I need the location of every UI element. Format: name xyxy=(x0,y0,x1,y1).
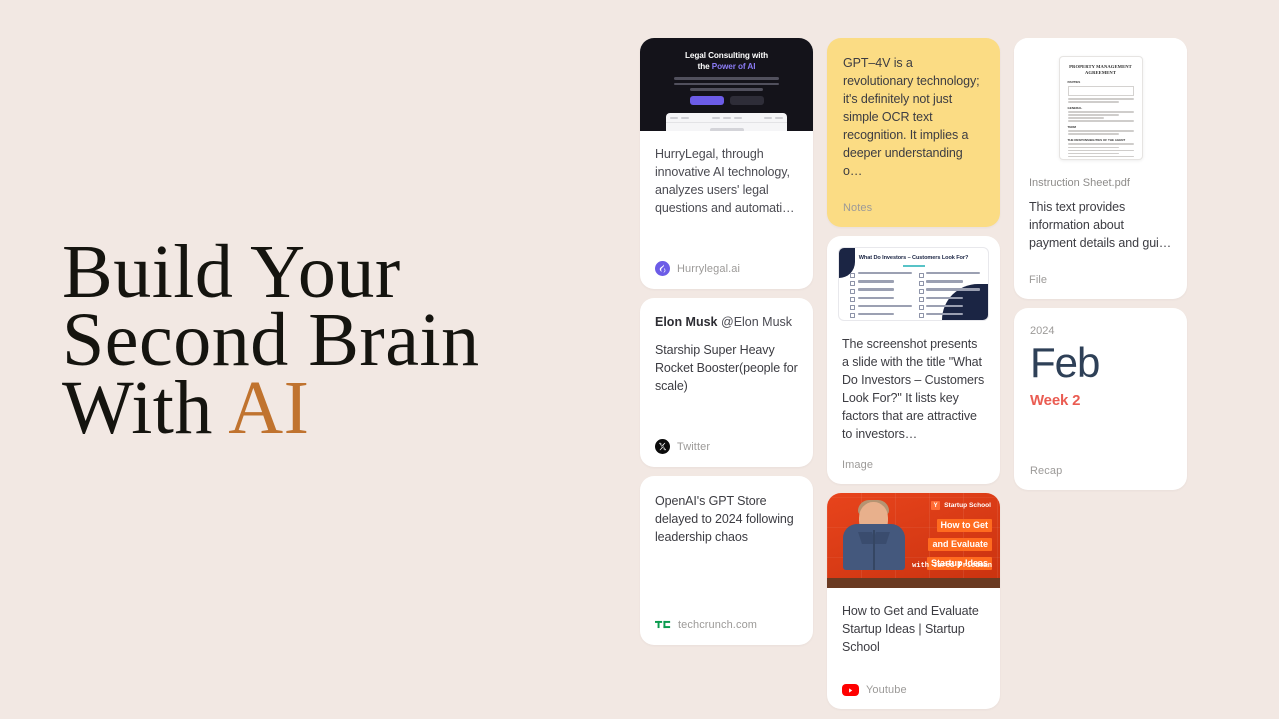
thumbnail-brand-label: Startup School xyxy=(944,502,991,509)
pdf-page-thumbnail: PROPERTY MANAGEMENT AGREEMENT PARTIES GE… xyxy=(1014,38,1187,170)
card-spacer xyxy=(843,180,984,202)
card-spacer xyxy=(1029,252,1172,274)
card-source-label: Twitter xyxy=(677,441,710,453)
pdf-text-line xyxy=(1068,147,1119,149)
thumbnail-hero-title: Legal Consulting with the Power of AI xyxy=(640,50,813,72)
pdf-text-line xyxy=(1068,150,1134,152)
list-item xyxy=(919,305,981,311)
pdf-form-box xyxy=(1068,86,1134,96)
thumbnail-browser-bar xyxy=(666,113,787,123)
card-hurrylegal[interactable]: Legal Consulting with the Power of AI Hu… xyxy=(640,38,813,289)
card-summary-text: HurryLegal, through innovative AI techno… xyxy=(655,145,798,217)
pdf-title-line-1: PROPERTY MANAGEMENT xyxy=(1069,64,1132,69)
slide-bullet-list-left xyxy=(850,272,912,321)
card-instruction-sheet-pdf[interactable]: PROPERTY MANAGEMENT AGREEMENT PARTIES GE… xyxy=(1014,38,1187,299)
slide-title-underline xyxy=(903,265,925,267)
card-source-label: Image xyxy=(842,459,985,471)
presentation-slide-thumbnail: What Do Investors – Customers Look For? xyxy=(838,247,989,321)
card-summary-text: OpenAI's GPT Store delayed to 2024 follo… xyxy=(655,492,798,546)
hero-title-line-2-accent: Power of AI xyxy=(712,62,756,71)
card-source-row[interactable]: Hurrylegal.ai xyxy=(655,261,798,276)
pdf-filename: Instruction Sheet.pdf xyxy=(1029,176,1172,191)
tweet-author-name: Elon Musk xyxy=(655,315,718,329)
tweet-author: Elon Musk @Elon Musk xyxy=(655,314,798,331)
card-source-label: Notes xyxy=(843,202,984,214)
card-board: Legal Consulting with the Power of AI Hu… xyxy=(640,38,1185,709)
slide-bullet-list-right xyxy=(919,272,981,321)
presenter-shirt-placket xyxy=(873,530,875,570)
pdf-section-heading: GENERAL xyxy=(1068,106,1134,110)
list-item xyxy=(919,297,981,303)
card-summary-text: How to Get and Evaluate Startup Ideas | … xyxy=(842,602,985,656)
overlay-line-1: How to Get xyxy=(937,519,993,532)
hero-title-line-2-plain: the xyxy=(698,62,712,71)
recap-month: Feb xyxy=(1030,340,1171,386)
pdf-section-heading: TERM xyxy=(1068,125,1134,129)
list-item xyxy=(919,272,981,278)
card-spacer xyxy=(655,546,798,614)
card-source-row[interactable]: techcrunch.com xyxy=(655,617,798,632)
pdf-text-line xyxy=(1068,133,1119,135)
thumbnail-brand: Y Startup School xyxy=(931,501,991,510)
ycombinator-icon: Y xyxy=(931,501,940,510)
pdf-section-heading: THE RESPONSIBILITIES OF THE AGENT xyxy=(1068,138,1134,142)
card-body: OpenAI's GPT Store delayed to 2024 follo… xyxy=(640,476,813,645)
card-body: The screenshot presents a slide with the… xyxy=(827,321,1000,484)
note-text: GPT–4V is a revolutionary technology; it… xyxy=(843,54,984,180)
card-elon-tweet[interactable]: Elon Musk @Elon Musk Starship Super Heav… xyxy=(640,298,813,467)
hero-headline: Build Your Second Brain With AI xyxy=(62,238,602,442)
thumbnail-presenter-figure xyxy=(843,502,905,578)
card-startup-school-video[interactable]: Y Startup School How to Get and Evaluate… xyxy=(827,493,1000,709)
youtube-icon xyxy=(842,684,859,696)
thumbnail-cta-buttons xyxy=(640,96,813,105)
card-summary-text: Starship Super Heavy Rocket Booster(peop… xyxy=(655,341,798,395)
card-body: How to Get and Evaluate Startup Ideas | … xyxy=(827,588,1000,709)
pdf-document-title: PROPERTY MANAGEMENT AGREEMENT xyxy=(1068,64,1134,76)
pdf-text-line xyxy=(1068,156,1134,158)
list-item xyxy=(850,297,912,303)
pdf-text-line xyxy=(1068,98,1134,100)
card-body: Instruction Sheet.pdf This text provides… xyxy=(1014,170,1187,299)
board-column-2: GPT–4V is a revolutionary technology; it… xyxy=(827,38,1000,709)
card-spacer xyxy=(655,395,798,439)
list-item xyxy=(850,305,912,311)
thumbnail-primary-button xyxy=(690,96,724,105)
pdf-text-line xyxy=(1068,111,1134,113)
overlay-line-2: and Evaluate xyxy=(928,538,992,551)
list-item xyxy=(919,313,981,319)
card-techcrunch-article[interactable]: OpenAI's GPT Store delayed to 2024 follo… xyxy=(640,476,813,645)
card-summary-text: This text provides information about pay… xyxy=(1029,198,1172,252)
list-item xyxy=(850,280,912,286)
card-source-row[interactable]: Youtube xyxy=(842,684,985,696)
headline-accent-ai: AI xyxy=(228,366,309,450)
slide-title: What Do Investors – Customers Look For? xyxy=(839,255,988,261)
card-source-row[interactable]: Twitter xyxy=(655,439,798,454)
website-hero-thumbnail: Legal Consulting with the Power of AI xyxy=(640,38,813,131)
card-source-label: techcrunch.com xyxy=(678,619,757,631)
card-body: Elon Musk @Elon Musk Starship Super Heav… xyxy=(640,298,813,467)
youtube-thumbnail: Y Startup School How to Get and Evaluate… xyxy=(827,493,1000,588)
card-source-label: File xyxy=(1029,274,1172,286)
card-gpt4v-note[interactable]: GPT–4V is a revolutionary technology; it… xyxy=(827,38,1000,227)
board-column-3: PROPERTY MANAGEMENT AGREEMENT PARTIES GE… xyxy=(1014,38,1187,490)
hero-title-line-1: Legal Consulting with xyxy=(685,51,768,60)
headline-line-3-prefix: With xyxy=(62,366,228,450)
board-column-1: Legal Consulting with the Power of AI Hu… xyxy=(640,38,813,645)
card-body: HurryLegal, through innovative AI techno… xyxy=(640,131,813,289)
pdf-title-line-2: AGREEMENT xyxy=(1085,70,1116,75)
hurrylegal-icon xyxy=(655,261,670,276)
pdf-page: PROPERTY MANAGEMENT AGREEMENT PARTIES GE… xyxy=(1059,56,1143,160)
list-item xyxy=(919,288,981,294)
page-title: Build Your Second Brain With AI xyxy=(62,238,602,442)
card-investor-slide[interactable]: What Do Investors – Customers Look For? xyxy=(827,236,1000,484)
pdf-section-heading: PARTIES xyxy=(1068,80,1134,84)
card-spacer xyxy=(842,656,985,684)
thumbnail-browser-mockup xyxy=(666,113,787,131)
list-item xyxy=(850,313,912,319)
card-body: 2024 Feb Week 2 Recap xyxy=(1014,308,1187,490)
techcrunch-icon xyxy=(655,617,671,632)
thumbnail-browser-logo xyxy=(710,128,744,131)
thumbnail-desk xyxy=(827,578,1000,588)
pdf-text-line xyxy=(1068,143,1134,145)
recap-week: Week 2 xyxy=(1030,392,1171,409)
card-source-label: Youtube xyxy=(866,684,907,696)
recap-year: 2024 xyxy=(1030,325,1171,337)
pdf-text-line xyxy=(1068,117,1104,119)
pdf-text-line xyxy=(1068,120,1134,122)
list-item xyxy=(919,280,981,286)
tweet-author-handle: @Elon Musk xyxy=(721,315,792,329)
card-source-label: Recap xyxy=(1030,465,1171,477)
pdf-text-line xyxy=(1068,114,1119,116)
pdf-text-line xyxy=(1068,159,1104,160)
card-feb-recap[interactable]: 2024 Feb Week 2 Recap xyxy=(1014,308,1187,490)
thumbnail-paragraph-placeholder xyxy=(674,77,779,91)
thumbnail-presenter-name: with Jared Friedman xyxy=(912,562,992,570)
card-spacer xyxy=(842,443,985,459)
pdf-text-line xyxy=(1068,101,1119,103)
card-source-label: Hurrylegal.ai xyxy=(677,263,740,275)
card-body: GPT–4V is a revolutionary technology; it… xyxy=(827,38,1000,227)
slide-bullet-columns xyxy=(850,272,980,321)
list-item xyxy=(850,288,912,294)
card-summary-text: The screenshot presents a slide with the… xyxy=(842,335,985,443)
card-spacer xyxy=(655,217,798,261)
x-twitter-icon xyxy=(655,439,670,454)
pdf-text-line xyxy=(1068,153,1119,155)
thumbnail-secondary-button xyxy=(730,96,764,105)
pdf-text-line xyxy=(1068,130,1134,132)
list-item xyxy=(850,272,912,278)
card-spacer xyxy=(1030,409,1171,453)
